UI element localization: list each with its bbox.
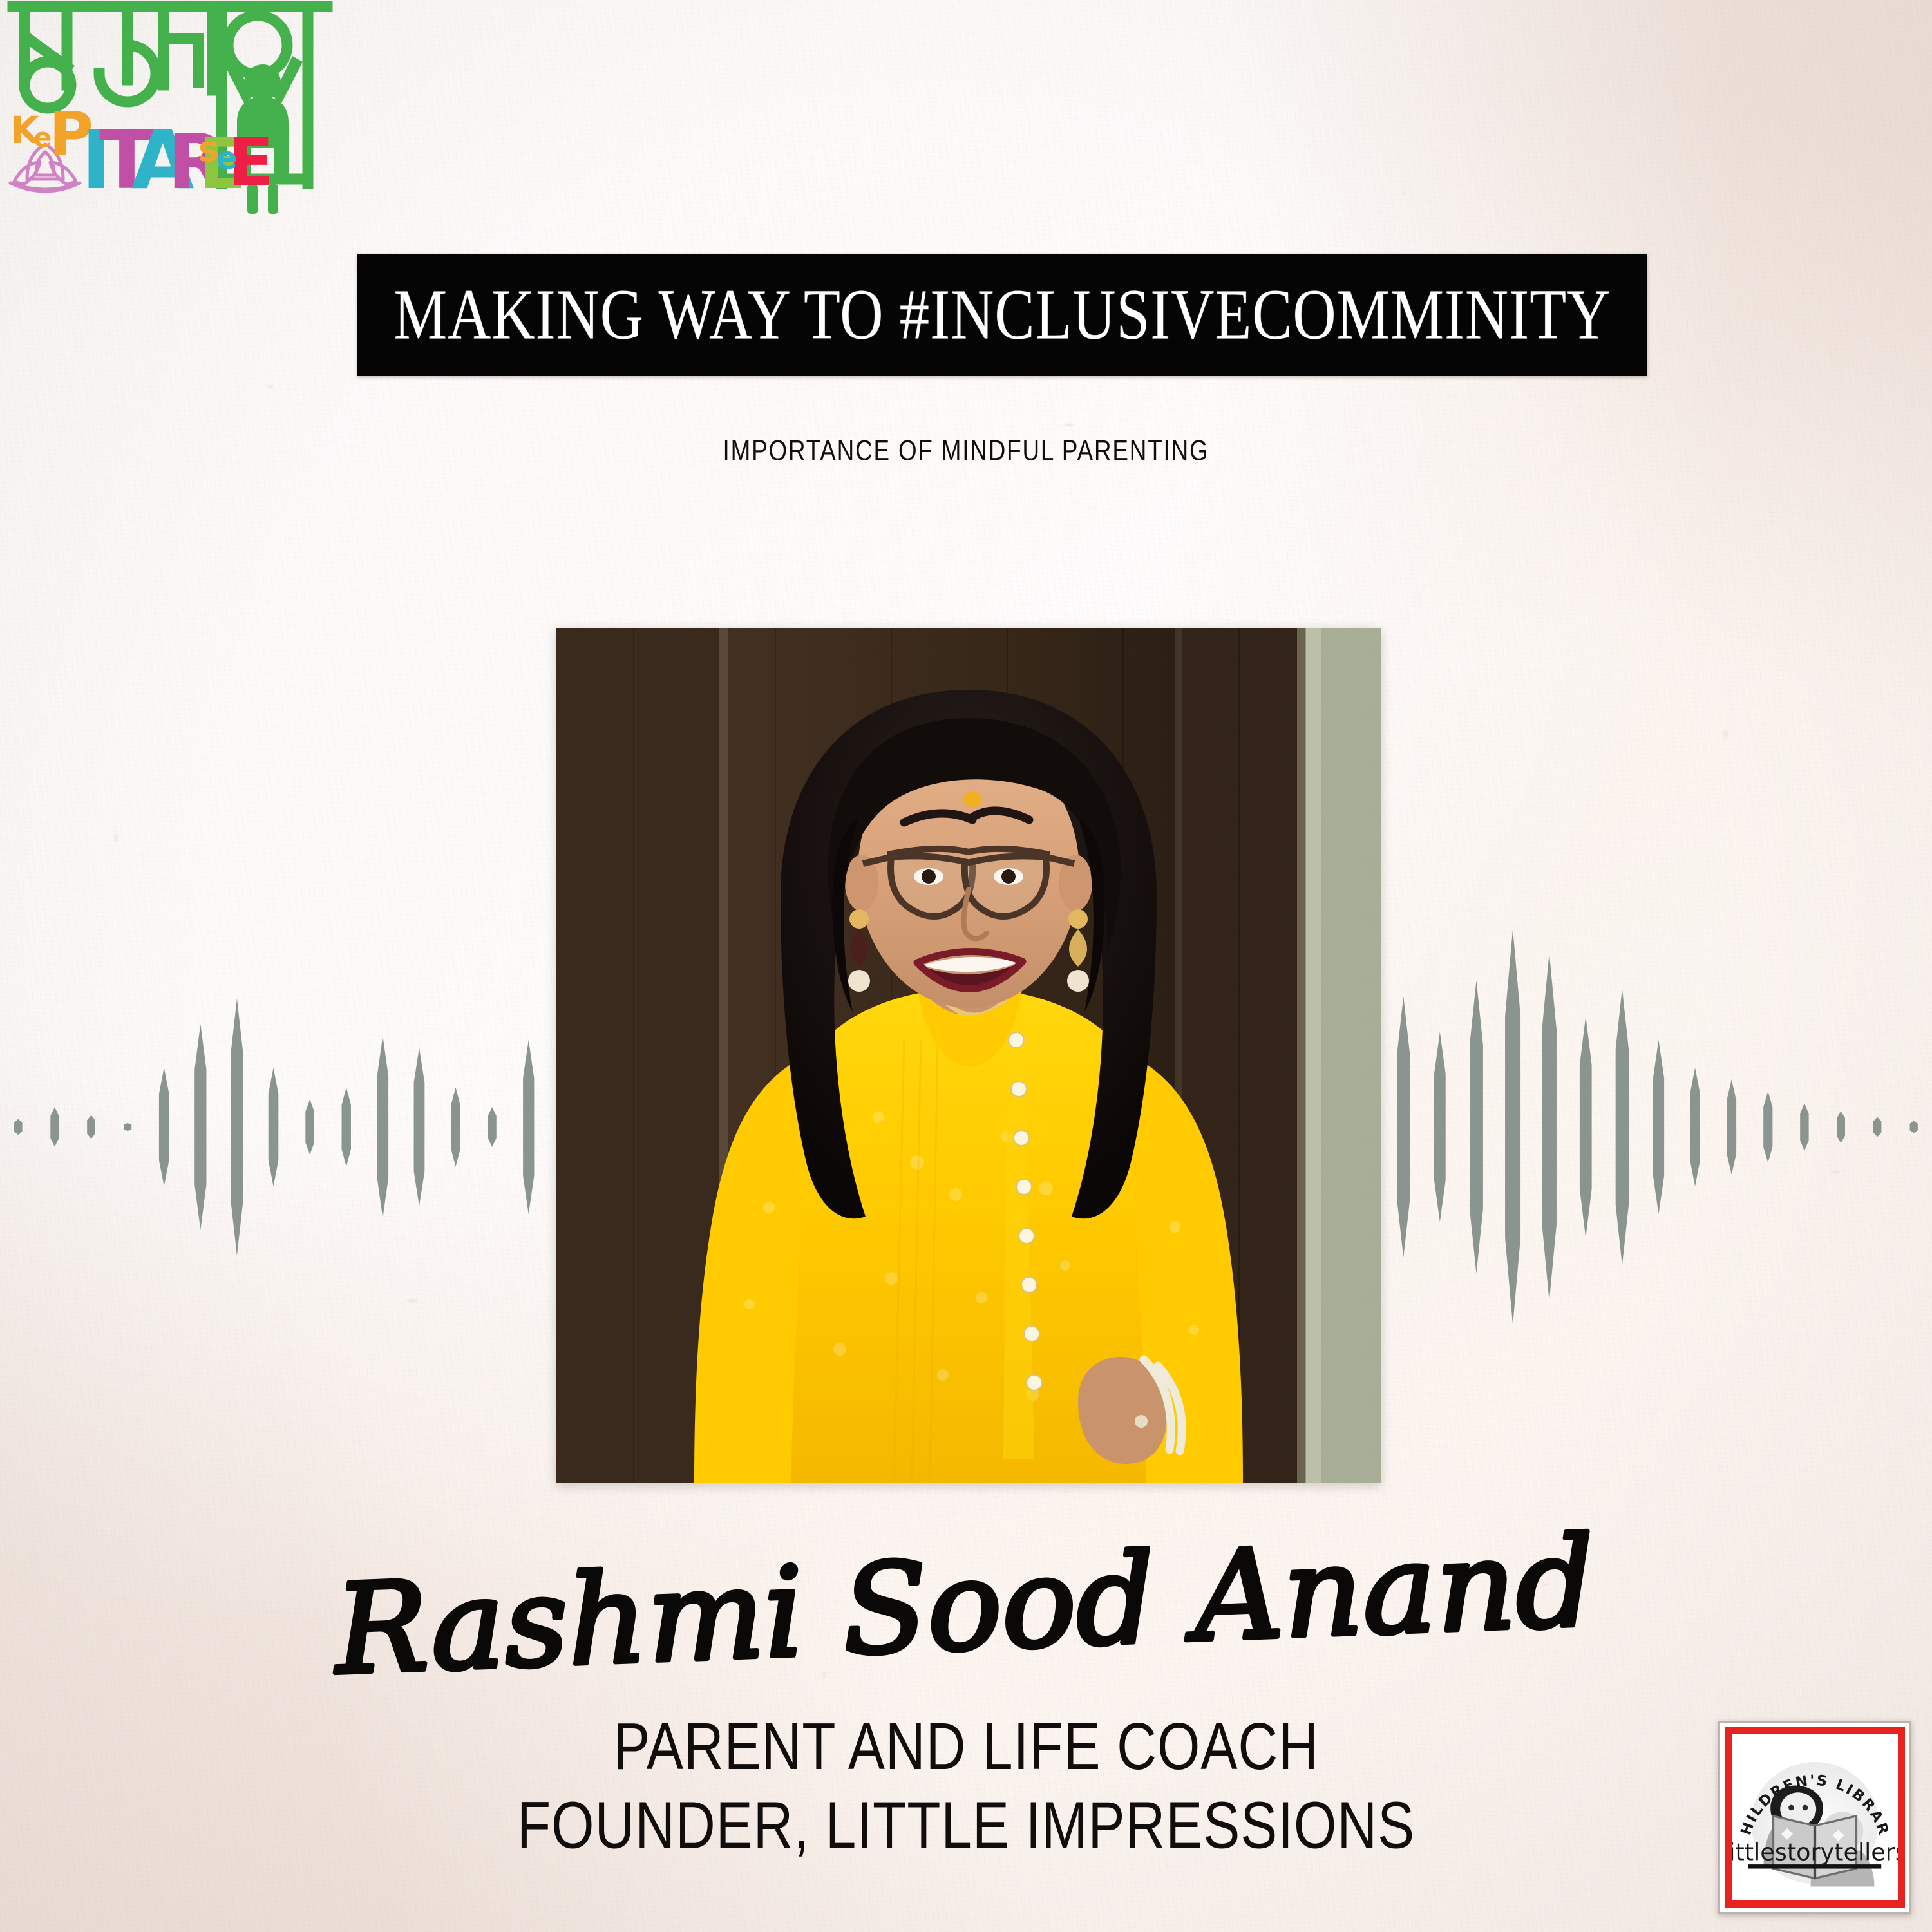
waveform-bar — [1837, 1111, 1845, 1142]
waveform-bar — [488, 1107, 497, 1146]
waveform-bar — [231, 998, 243, 1255]
poster-canvas: K e P I T A R E E s e MAKING WAY TO #INC… — [0, 0, 1932, 1932]
speaker-signature: Rashmi Sood Anand Rashmi Sood Anand — [0, 1488, 1932, 1700]
waveform-bar — [1763, 1092, 1772, 1163]
signature-text-outline: Rashmi Sood Anand — [330, 1511, 1597, 1703]
waveform-bar — [1470, 981, 1483, 1274]
waveform-bar — [159, 1068, 169, 1186]
waveform-bar — [1397, 996, 1410, 1258]
waveform-bar — [14, 1119, 22, 1135]
waveform-bar — [1434, 1032, 1446, 1222]
waveform-bar — [1616, 989, 1629, 1265]
waveform-bar — [50, 1107, 59, 1146]
waveform-bar — [1580, 1016, 1592, 1238]
role-line-1: PARENT AND LIFE COACH — [68, 1708, 1864, 1786]
waveform-bar — [1910, 1121, 1918, 1133]
waveform-bar — [124, 1123, 131, 1131]
speaker-portrait — [556, 628, 1381, 1483]
waveform-bar — [269, 1068, 279, 1186]
page-title: IMPORTANCE OF MINDFUL PARENTING — [77, 437, 1855, 466]
waveform-bar — [377, 1036, 389, 1218]
waveform-bar — [305, 1099, 314, 1155]
svg-text:e: e — [216, 140, 238, 176]
waveform-bar — [523, 1040, 534, 1214]
waveform-bar — [194, 1024, 206, 1229]
waveform-bar — [451, 1088, 460, 1167]
little-storytellers-badge[interactable]: CHILDREN'S LIBRARY — [1718, 1721, 1911, 1914]
role-line-2: FOUNDER, LITTLE IMPRESSIONS — [68, 1786, 1864, 1865]
headline-banner: MAKING WAY TO #INCLUSIVECOMMINITY — [357, 254, 1647, 376]
waveform-bar — [342, 1088, 351, 1167]
waveform-bar — [414, 1048, 425, 1206]
headline-banner-text: MAKING WAY TO #INCLUSIVECOMMINITY — [394, 279, 1611, 351]
badge-wordmark: littlestorytellers — [1732, 1839, 1898, 1866]
waveform-bar — [1873, 1117, 1882, 1137]
waveform-bar — [1800, 1103, 1808, 1151]
speaker-role: PARENT AND LIFE COACH FOUNDER, LITTLE IM… — [68, 1708, 1864, 1864]
waveform-bar — [1690, 1068, 1700, 1186]
waveform-bar — [87, 1115, 95, 1139]
waveform-bar — [1653, 1040, 1664, 1214]
waveform-bar — [1542, 953, 1557, 1302]
brand-logo[interactable]: K e P I T A R E E s e — [5, 0, 353, 219]
badge-inner-frame: CHILDREN'S LIBRARY — [1725, 1727, 1905, 1908]
waveform-bar — [1727, 1079, 1736, 1174]
waveform-bar — [1505, 929, 1520, 1325]
